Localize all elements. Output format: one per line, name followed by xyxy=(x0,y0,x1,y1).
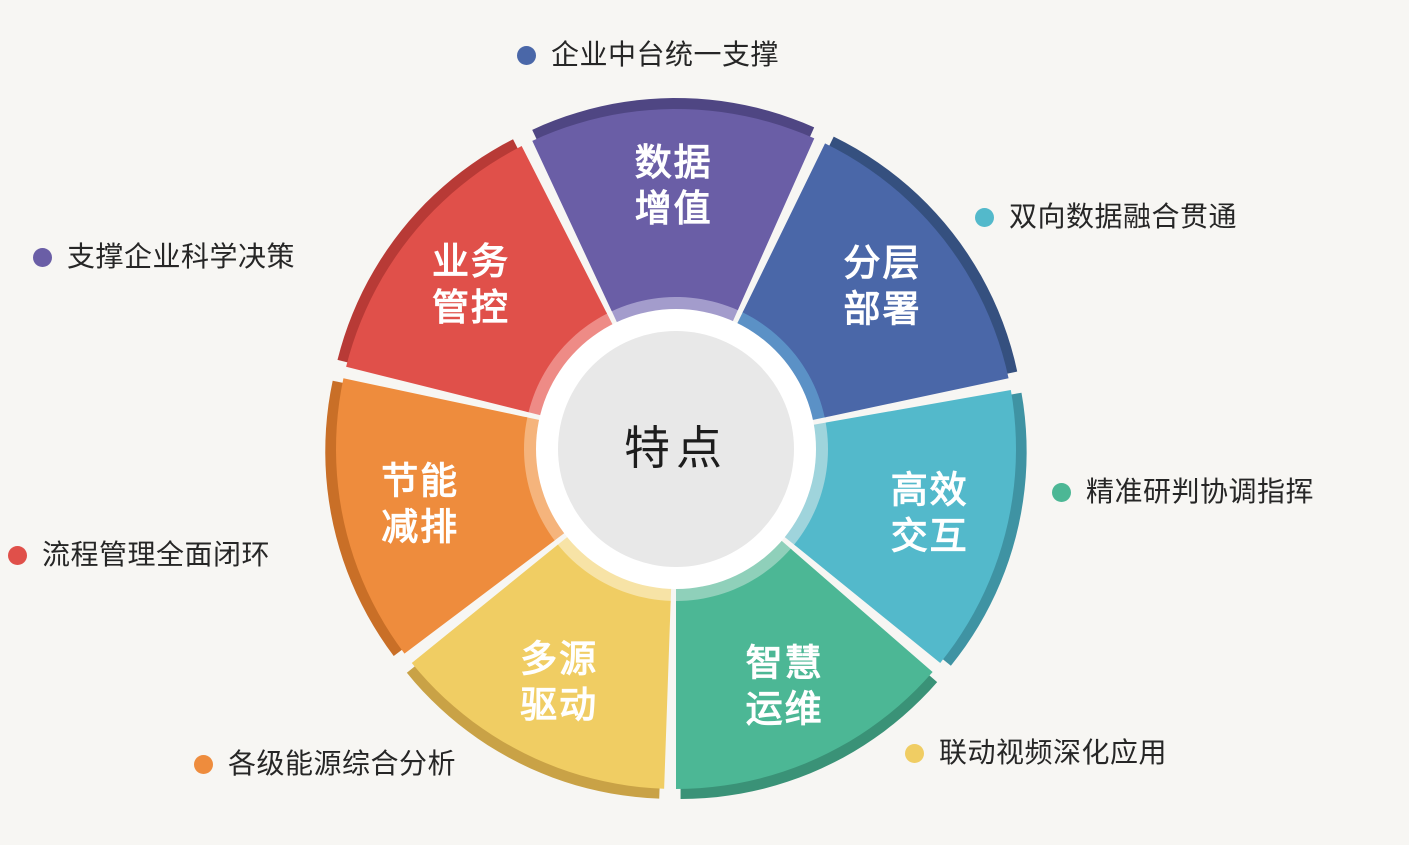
callout-bullet-icon xyxy=(517,46,536,65)
callout-bullet-icon xyxy=(905,744,924,763)
segment-label-line1-shujuzengzhi: 数据 xyxy=(635,142,713,183)
segment-label-line2-duoyuanqudong: 驱动 xyxy=(520,684,598,725)
segment-label-line2-jienengjianpai: 减排 xyxy=(381,506,459,547)
hub-label: 特点 xyxy=(624,422,728,474)
segment-label-line1-fencengbushu: 分层 xyxy=(844,242,922,283)
callout-upper-left[interactable]: 支撑企业科学决策 xyxy=(33,243,295,271)
callout-bullet-icon xyxy=(194,755,213,774)
segment-label-line2-zhihuiyunwei: 运维 xyxy=(746,688,824,729)
segment-label-line2-shujuzengzhi: 增值 xyxy=(635,188,713,229)
feature-wheel-diagram: 分层部署高效交互智慧运维多源驱动节能减排业务管控数据增值 特点 xyxy=(0,0,1409,845)
segment-label-line1-yewuguankong: 业务 xyxy=(432,241,510,282)
callout-lower-left[interactable]: 各级能源综合分析 xyxy=(194,750,456,778)
segment-label-line2-gaoxiaojiaohu: 交互 xyxy=(891,514,969,556)
callout-text: 支撑企业科学决策 xyxy=(67,243,295,271)
callout-text: 精准研判协调指挥 xyxy=(1086,478,1314,506)
callout-upper-right[interactable]: 双向数据融合贯通 xyxy=(975,203,1237,231)
callout-text: 联动视频深化应用 xyxy=(939,739,1167,767)
callout-top[interactable]: 企业中台统一支撑 xyxy=(517,41,779,69)
callout-right[interactable]: 精准研判协调指挥 xyxy=(1052,478,1314,506)
segment-label-line2-yewuguankong: 管控 xyxy=(432,287,510,328)
callout-text: 企业中台统一支撑 xyxy=(551,41,779,69)
callout-text: 流程管理全面闭环 xyxy=(42,541,270,569)
callout-bullet-icon xyxy=(33,248,52,267)
infographic-canvas: 分层部署高效交互智慧运维多源驱动节能减排业务管控数据增值 特点 企业中台统一支撑… xyxy=(0,0,1409,845)
callout-lower-right[interactable]: 联动视频深化应用 xyxy=(905,739,1167,767)
callout-text: 双向数据融合贯通 xyxy=(1009,203,1237,231)
segment-label-line1-gaoxiaojiaohu: 高效 xyxy=(891,469,969,510)
segment-label-line2-fencengbushu: 部署 xyxy=(844,288,922,329)
segment-label-line1-zhihuiyunwei: 智慧 xyxy=(746,642,824,683)
callout-text: 各级能源综合分析 xyxy=(228,750,456,778)
callout-bullet-icon xyxy=(1052,483,1071,502)
callout-bullet-icon xyxy=(8,546,27,565)
segment-label-line1-jienengjianpai: 节能 xyxy=(381,460,459,501)
callout-left[interactable]: 流程管理全面闭环 xyxy=(8,541,270,569)
segment-label-line1-duoyuanqudong: 多源 xyxy=(520,638,598,679)
callout-bullet-icon xyxy=(975,208,994,227)
